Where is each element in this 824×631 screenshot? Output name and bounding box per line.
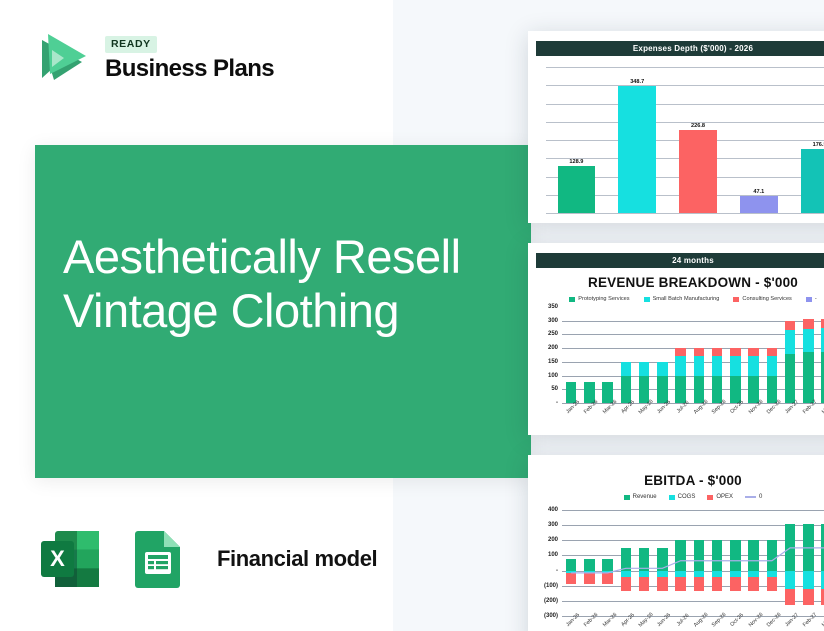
bar-slot [745,307,763,403]
bar-segment [639,376,650,403]
x-label-slot: Apr-26 [617,404,635,430]
bar-segment [748,348,759,357]
stacked-bar[interactable] [803,307,814,403]
legend-label: 0 [759,494,762,500]
cogs-bar [639,571,650,578]
bar-column[interactable] [799,510,817,616]
revenue-bar [657,548,668,571]
revenue-bar [730,540,741,570]
legend-swatch [733,297,739,302]
bar[interactable]: 176.5 [801,149,824,213]
y-tick-label: (100) [544,583,562,589]
bar-segment [694,348,705,357]
y-tick-label: 100 [548,552,562,558]
expenses-plot-area: 128.9348.7226.847.1176.5 [546,67,824,213]
cogs-bar [657,571,668,578]
x-label-slot: Jan-27 [781,617,799,631]
bar-value-label: 226.8 [691,123,705,129]
legend-swatch [644,297,650,302]
x-label-slot: Sep-26 [708,617,726,631]
cogs-bar [694,571,705,578]
bar-column[interactable] [599,510,617,616]
bar-segment [767,356,778,375]
bar-segment [803,329,814,352]
bar-segment [803,352,814,403]
bar-segment [675,356,686,375]
revenue-bar [803,524,814,570]
bar-segment [730,376,741,403]
stacked-bar[interactable] [566,307,577,403]
bar-column[interactable] [726,510,744,616]
opex-bar [675,577,686,591]
x-label-slot: Jan-27 [781,404,799,430]
bar-slot [653,307,671,403]
x-label-slot: Nov-26 [745,404,763,430]
x-label-slot: Mar-26 [599,617,617,631]
stacked-bar[interactable] [602,307,613,403]
stacked-bar[interactable] [785,307,796,403]
bar-value-label: 128.9 [569,159,583,165]
opex-bar [767,577,778,591]
bar-segment [767,348,778,357]
bar-segment [730,356,741,375]
x-label-slot: Feb-27 [799,617,817,631]
stacked-bar[interactable] [694,307,705,403]
bar-slot [672,307,690,403]
bar-slot [799,307,817,403]
bar-slot: 128.9 [546,67,607,213]
cogs-bar [730,571,741,578]
revenue-bar [694,540,705,570]
y-tick-label: 200 [548,345,562,351]
revenue-bars [562,307,824,403]
legend-swatch [569,297,575,302]
ebitda-chart-title: EBITDA - $'000 [528,473,824,488]
cogs-bar [767,571,778,578]
revenue-legend: Prototyping ServicesSmall Batch Manufact… [528,296,824,302]
bar-segment [639,362,650,376]
x-label-slot: Jan-26 [562,617,580,631]
bar-column[interactable] [562,510,580,616]
gridline [546,213,824,214]
bar-segment [748,356,759,375]
bar-segment [621,362,632,376]
legend-label: Prototyping Services [578,296,629,302]
bar-segment [694,376,705,403]
bar-column[interactable] [617,510,635,616]
bar-slot: 176.5 [789,67,824,213]
legend-swatch [624,495,630,500]
legend-item: 0 [745,494,762,500]
y-tick-label: 350 [548,304,562,310]
footer-row: X Financial model [33,522,377,596]
bar-slot [580,307,598,403]
opex-bar [712,577,723,591]
legend-item: OPEX [707,494,733,500]
y-tick-label: 300 [548,318,562,324]
ready-badge: READY [105,36,157,53]
x-label-slot: Feb-26 [580,617,598,631]
opex-bar [694,577,705,591]
brand-name: Business Plans [105,56,274,82]
x-label-slot: Oct-26 [726,617,744,631]
opex-bar [639,577,650,591]
legend-label: Small Batch Manufacturing [653,296,720,302]
bar-segment [785,330,796,353]
bar-column[interactable] [763,510,781,616]
bar-value-label: 348.7 [630,79,644,85]
legend-label: OPEX [716,494,733,500]
brand-text-block: READY Business Plans [105,32,274,82]
bar[interactable]: 226.8 [679,130,717,213]
bar-segment [712,356,723,375]
hero-panel: Aesthetically Resell Vintage Clothing [35,145,531,478]
x-label-slot: Mar-27 [818,404,824,430]
bar-slot [726,307,744,403]
x-label-slot: Mar-27 [818,617,824,631]
x-label-slot: May-26 [635,617,653,631]
bar-column[interactable] [781,510,799,616]
legend-label: Consulting Services [742,296,791,302]
slide-canvas: READY Business Plans Aesthetically Resel… [0,0,824,631]
revenue-plot-area: 35030025020015010050- [562,307,824,403]
x-label-slot: Jan-26 [562,404,580,430]
x-label-slot: Sep-26 [708,404,726,430]
legend-label: Revenue [633,494,657,500]
bar-column[interactable] [635,510,653,616]
legend-swatch [707,495,713,500]
y-tick-label: 100 [548,373,562,379]
revenue-bar [602,559,613,570]
bar-column[interactable] [708,510,726,616]
stacked-bar[interactable] [621,307,632,403]
cogs-bar [675,571,686,578]
revenue-bar [767,540,778,570]
revenue-bar [712,540,723,570]
bar-slot [562,307,580,403]
bar-slot [781,307,799,403]
chart-card-expenses[interactable]: Expenses Depth ($'000) - 2026 128.9348.7… [528,31,824,223]
x-label-slot: Feb-27 [799,404,817,430]
opex-bar [566,573,577,584]
stacked-bar[interactable] [748,307,759,403]
bar-segment [803,319,814,329]
revenue-bar [675,540,686,570]
financial-model-label: Financial model [217,546,377,572]
cogs-bar [785,571,796,589]
stacked-bar[interactable] [639,307,650,403]
x-label-slot: Feb-26 [580,404,598,430]
chart-card-revenue[interactable]: 24 months REVENUE BREAKDOWN - $'000 Prot… [528,243,824,435]
revenue-bar [566,559,577,570]
excel-icon[interactable]: X [33,522,107,596]
x-label-slot: Apr-26 [617,617,635,631]
opex-bar [602,573,613,584]
bar-segment [621,376,632,403]
bar-segment [675,348,686,357]
bar-segment [748,376,759,403]
revenue-bar [748,540,759,570]
x-label-slot: Dec-26 [763,617,781,631]
bar-column[interactable] [745,510,763,616]
opex-bar [785,589,796,606]
x-label-slot: Oct-26 [726,404,744,430]
expenses-ribbon-title: Expenses Depth ($'000) - 2026 [536,41,824,56]
bar-value-label: 176.5 [813,142,824,148]
play-triangle-logo [30,26,92,88]
y-tick-label: 250 [548,331,562,337]
bar-segment [767,376,778,403]
bar-segment [657,362,668,376]
cogs-bar [621,571,632,578]
revenue-ribbon-title: 24 months [536,253,824,268]
brand-lockup[interactable]: READY Business Plans [30,26,274,88]
legend-label: - [815,296,817,302]
legend-item: - [806,296,817,302]
x-label-slot: Jun-26 [653,617,671,631]
x-label-slot: May-26 [635,404,653,430]
bar-slot [763,307,781,403]
opex-bar [730,577,741,591]
bar-column[interactable] [580,510,598,616]
ebitda-legend: RevenueCOGSOPEX0 [528,494,824,500]
bar-segment [785,321,796,331]
page-title: Aesthetically Resell Vintage Clothing [63,230,493,338]
bar-segment [694,356,705,375]
legend-item: Revenue [624,494,657,500]
cogs-bar [712,571,723,578]
legend-swatch [806,297,812,302]
bar-column[interactable] [690,510,708,616]
opex-bar [584,573,595,584]
bar-column[interactable] [818,510,824,616]
stacked-bar[interactable] [675,307,686,403]
x-label-slot: Jun-26 [653,404,671,430]
bar-segment [675,376,686,403]
x-label-slot: Aug-26 [690,617,708,631]
bar-slot [818,307,824,403]
legend-item: Small Batch Manufacturing [644,296,720,302]
x-label-slot: Dec-26 [763,404,781,430]
legend-item: Consulting Services [733,296,791,302]
legend-label: COGS [678,494,696,500]
y-tick-label: 300 [548,522,562,528]
bar-slot [635,307,653,403]
bar-column[interactable] [672,510,690,616]
bar-segment [785,354,796,403]
y-tick-label: 400 [548,507,562,513]
revenue-bar [639,548,650,571]
cogs-bar [748,571,759,578]
bar-slot: 348.7 [607,67,668,213]
ebitda-plot-area: 400300200100-(100)(200)(300) [562,510,824,616]
google-sheets-icon[interactable] [121,522,195,596]
x-label-slot: Jul-26 [672,404,690,430]
bar[interactable]: 128.9 [558,166,596,213]
bar-slot [708,307,726,403]
opex-bar [621,577,632,591]
x-label-slot: Nov-26 [745,617,763,631]
stacked-bar[interactable] [712,307,723,403]
x-label-slot: Aug-26 [690,404,708,430]
revenue-x-axis-labels: Jan-26Feb-26Mar-26Apr-26May-26Jun-26Jul-… [562,404,824,430]
legend-swatch [745,496,756,498]
x-label-slot: Jul-26 [672,617,690,631]
bar-slot [617,307,635,403]
expenses-bars: 128.9348.7226.847.1176.5 [546,67,824,213]
cogs-bar [803,571,814,589]
stacked-bar[interactable] [730,307,741,403]
opex-bar [657,577,668,591]
x-label-slot: Mar-26 [599,404,617,430]
bar-segment [712,348,723,357]
y-tick-label: (300) [544,613,562,619]
bar-segment [712,376,723,403]
stacked-bar[interactable] [657,307,668,403]
y-tick-label: 150 [548,359,562,365]
svg-text:X: X [50,546,65,571]
bar-slot [599,307,617,403]
ebitda-bars [562,510,824,616]
revenue-chart-title: REVENUE BREAKDOWN - $'000 [528,275,824,290]
stacked-bar[interactable] [767,307,778,403]
legend-item: Prototyping Services [569,296,629,302]
y-tick-label: (200) [544,598,562,604]
revenue-bar [584,559,595,570]
opex-bar [748,577,759,591]
ebitda-x-axis-labels: Jan-26Feb-26Mar-26Apr-26May-26Jun-26Jul-… [562,617,824,631]
bar-column[interactable] [653,510,671,616]
bar-slot: 226.8 [668,67,729,213]
y-tick-label: 50 [551,386,562,392]
bar-segment [730,348,741,357]
revenue-bar [785,524,796,570]
legend-item: COGS [669,494,696,500]
legend-swatch [669,495,675,500]
bar-slot [690,307,708,403]
bar-segment [657,376,668,403]
bar[interactable]: 348.7 [618,86,656,213]
bar-slot: 47.1 [728,67,789,213]
revenue-bar [621,548,632,571]
stacked-bar[interactable] [584,307,595,403]
chart-card-ebitda[interactable]: EBITDA - $'000 RevenueCOGSOPEX0 40030020… [528,455,824,631]
bar-value-label: 47.1 [753,189,764,195]
opex-bar [803,589,814,606]
bar[interactable]: 47.1 [740,196,778,213]
y-tick-label: 200 [548,537,562,543]
